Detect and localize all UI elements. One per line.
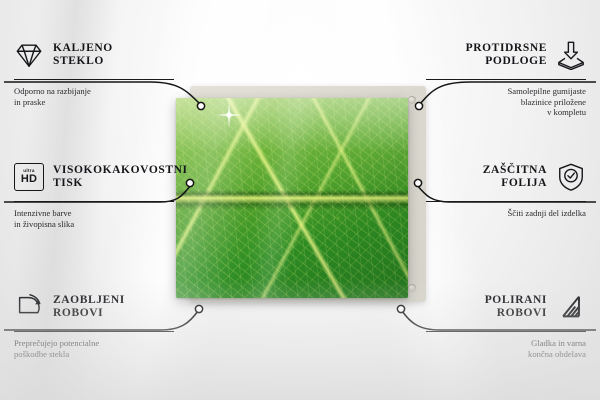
mounting-hole-top-right — [408, 96, 416, 104]
feature-divider — [426, 201, 586, 202]
glass-panel — [176, 98, 408, 298]
rounded-corner-icon — [14, 292, 44, 322]
feature-title: PROTIDRSNE PODLOGE — [466, 42, 547, 69]
feature-description: Samolepilne gumijaste blazinice priložen… — [426, 86, 586, 118]
desc-line-1: Odporno na razbijanje — [14, 86, 174, 97]
title-line-1: ZAŠČITNA — [483, 164, 547, 178]
desc-line-1: Ščiti zadnji del izdelka — [426, 208, 586, 219]
feature-description: Odporno na razbijanje in praske — [14, 86, 174, 107]
title-line-1: POLIRANI — [485, 294, 547, 308]
shield-check-icon — [556, 162, 586, 192]
feature-divider — [14, 79, 174, 80]
feature-anti-slip-pads: PROTIDRSNE PODLOGE Samolepilne gumijaste… — [426, 36, 586, 118]
feature-description: Gladka in varna končna obdelava — [426, 338, 586, 359]
feature-title: POLIRANI ROBOVI — [485, 294, 547, 321]
product-image — [176, 86, 426, 308]
title-line-2: ROBOVI — [53, 307, 125, 321]
title-line-2: ROBOVI — [485, 307, 547, 321]
title-line-1: VISOKOKAKOVOSTNI — [53, 164, 188, 178]
hd-label: HD — [21, 174, 37, 185]
feature-divider — [426, 79, 586, 80]
feature-protective-foil: ZAŠČITNA FOLIJA Ščiti zadnji del izdelka — [426, 158, 586, 219]
feature-title: ZAŠČITNA FOLIJA — [483, 164, 547, 191]
ultra-hd-icon: ultra HD — [14, 163, 44, 191]
desc-line-2: in praske — [14, 97, 174, 108]
product-feature-infographic: KALJENO STEKLO Odporno na razbijanje in … — [0, 0, 600, 400]
feature-title: VISOKOKAKOVOSTNI TISK — [53, 164, 188, 191]
feature-divider — [14, 201, 174, 202]
desc-line-2: končna obdelava — [426, 349, 586, 360]
feature-divider — [14, 331, 174, 332]
polished-edge-icon — [556, 292, 586, 322]
desc-line-3: v kompletu — [426, 107, 586, 118]
title-line-2: STEKLO — [53, 55, 113, 69]
desc-line-2: in živopisna slika — [14, 219, 174, 230]
desc-line-2: poškodbe stekla — [14, 349, 174, 360]
feature-description: Preprečujejo potencialne poškodbe stekla — [14, 338, 174, 359]
feature-divider — [426, 331, 586, 332]
feature-description: Intenzivne barve in živopisna slika — [14, 208, 174, 229]
feature-polished-edges: POLIRANI ROBOVI Gladka in varna končna o… — [426, 288, 586, 359]
diamond-icon — [14, 40, 44, 70]
feature-rounded-edges: ZAOBLJENI ROBOVI Preprečujejo potencialn… — [14, 288, 174, 359]
desc-line-1: Preprečujejo potencialne — [14, 338, 174, 349]
title-line-1: PROTIDRSNE — [466, 42, 547, 56]
title-line-2: FOLIJA — [483, 177, 547, 191]
title-line-2: TISK — [53, 177, 188, 191]
desc-line-1: Samolepilne gumijaste — [426, 86, 586, 97]
anti-slip-pad-icon — [556, 40, 586, 70]
feature-title: ZAOBLJENI ROBOVI — [53, 294, 125, 321]
feature-title: KALJENO STEKLO — [53, 42, 113, 69]
feature-tempered-glass: KALJENO STEKLO Odporno na razbijanje in … — [14, 36, 174, 107]
title-line-2: PODLOGE — [466, 55, 547, 69]
feature-hd-print: ultra HD VISOKOKAKOVOSTNI TISK Intenzivn… — [14, 158, 174, 229]
mounting-hole-bottom-right — [408, 284, 416, 292]
feature-description: Ščiti zadnji del izdelka — [426, 208, 586, 219]
desc-line-1: Gladka in varna — [426, 338, 586, 349]
desc-line-1: Intenzivne barve — [14, 208, 174, 219]
desc-line-2: blazinice priložene — [426, 97, 586, 108]
title-line-1: KALJENO — [53, 42, 113, 56]
title-line-1: ZAOBLJENI — [53, 294, 125, 308]
